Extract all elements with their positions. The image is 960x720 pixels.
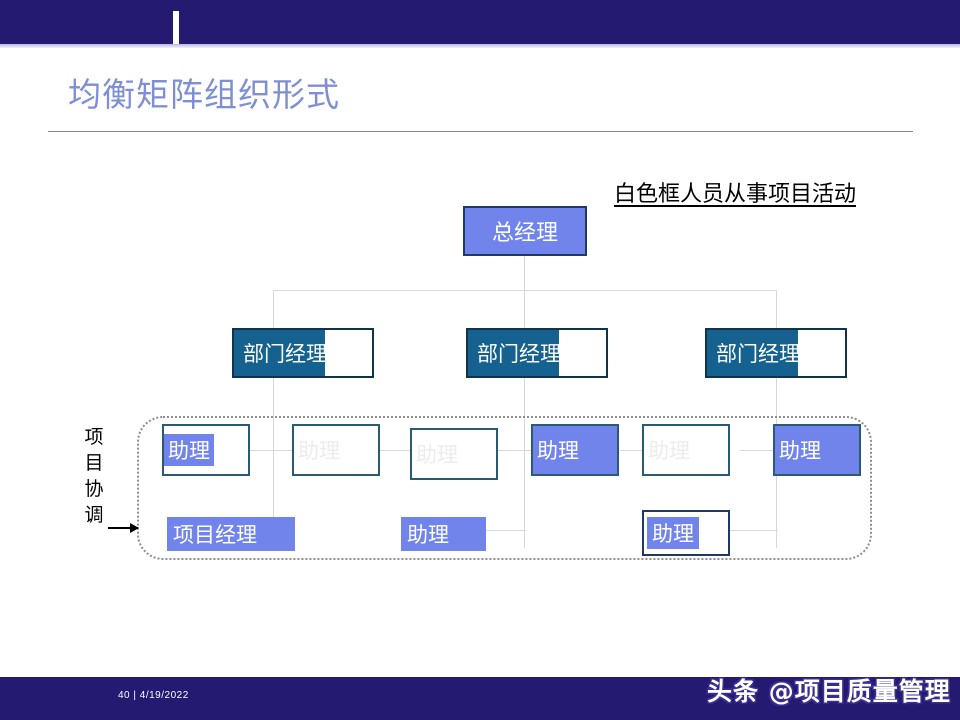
node-assistant-2-label: 助理 xyxy=(294,434,344,466)
node-assistant-1-label: 助理 xyxy=(164,434,214,466)
node-department-manager-2-label: 部门经理 xyxy=(468,338,561,368)
project-coordination-char-3: 协 xyxy=(81,476,107,502)
project-coordination-label: 项 目 协 调 xyxy=(81,424,107,528)
header-glow-divider xyxy=(0,44,960,48)
title-underline-rule xyxy=(48,131,913,132)
node-department-manager-3[interactable]: 部门经理 xyxy=(705,328,847,378)
coordination-arrow-icon xyxy=(108,527,138,529)
connector-dept-drop-1 xyxy=(273,290,274,328)
node-project-manager[interactable]: 项目经理 xyxy=(167,517,295,551)
node-assistant-3-label: 助理 xyxy=(412,438,462,470)
node-department-manager-3-label: 部门经理 xyxy=(707,338,800,368)
connector-dept-drop-2 xyxy=(524,290,525,328)
footer-page-info: 40 | 4/19/2022 xyxy=(118,690,189,701)
connector-gm-stem xyxy=(524,256,525,290)
node-assistant-6[interactable]: 助理 xyxy=(773,424,861,476)
node-assistant-3[interactable]: 助理 xyxy=(410,428,498,480)
node-project-assistant-2-label: 助理 xyxy=(647,517,699,549)
node-assistant-2[interactable]: 助理 xyxy=(292,424,380,476)
node-department-manager-2[interactable]: 部门经理 xyxy=(466,328,608,378)
node-project-manager-label: 项目经理 xyxy=(173,519,257,549)
node-department-manager-1[interactable]: 部门经理 xyxy=(232,328,374,378)
header-bar xyxy=(0,0,960,44)
node-assistant-4-label: 助理 xyxy=(533,434,583,466)
node-project-assistant-1[interactable]: 助理 xyxy=(401,517,486,551)
node-assistant-5-label: 助理 xyxy=(644,434,694,466)
project-coordination-char-1: 项 xyxy=(81,424,107,450)
project-coordination-char-2: 目 xyxy=(81,450,107,476)
footer-watermark: 头条 @项目质量管理 xyxy=(707,672,951,708)
node-assistant-5[interactable]: 助理 xyxy=(642,424,730,476)
slide-canvas: 均衡矩阵组织形式 白色框人员从事项目活动 总经理 部门经理 部门经理 部门经理 xyxy=(0,0,960,720)
node-project-assistant-2[interactable]: 助理 xyxy=(642,510,730,556)
node-project-assistant-1-label: 助理 xyxy=(407,519,449,549)
header-white-bar-mark xyxy=(173,11,179,44)
node-assistant-6-label: 助理 xyxy=(775,434,825,466)
node-assistant-1[interactable]: 助理 xyxy=(162,424,250,476)
node-department-manager-1-label: 部门经理 xyxy=(234,338,327,368)
connector-dept-drop-3 xyxy=(776,290,777,328)
node-general-manager[interactable]: 总经理 xyxy=(463,206,587,256)
page-title: 均衡矩阵组织形式 xyxy=(68,68,340,116)
node-assistant-4[interactable]: 助理 xyxy=(531,424,619,476)
project-coordination-char-4: 调 xyxy=(81,502,107,528)
annotation-note: 白色框人员从事项目活动 xyxy=(614,176,856,208)
node-general-manager-label: 总经理 xyxy=(492,215,558,247)
